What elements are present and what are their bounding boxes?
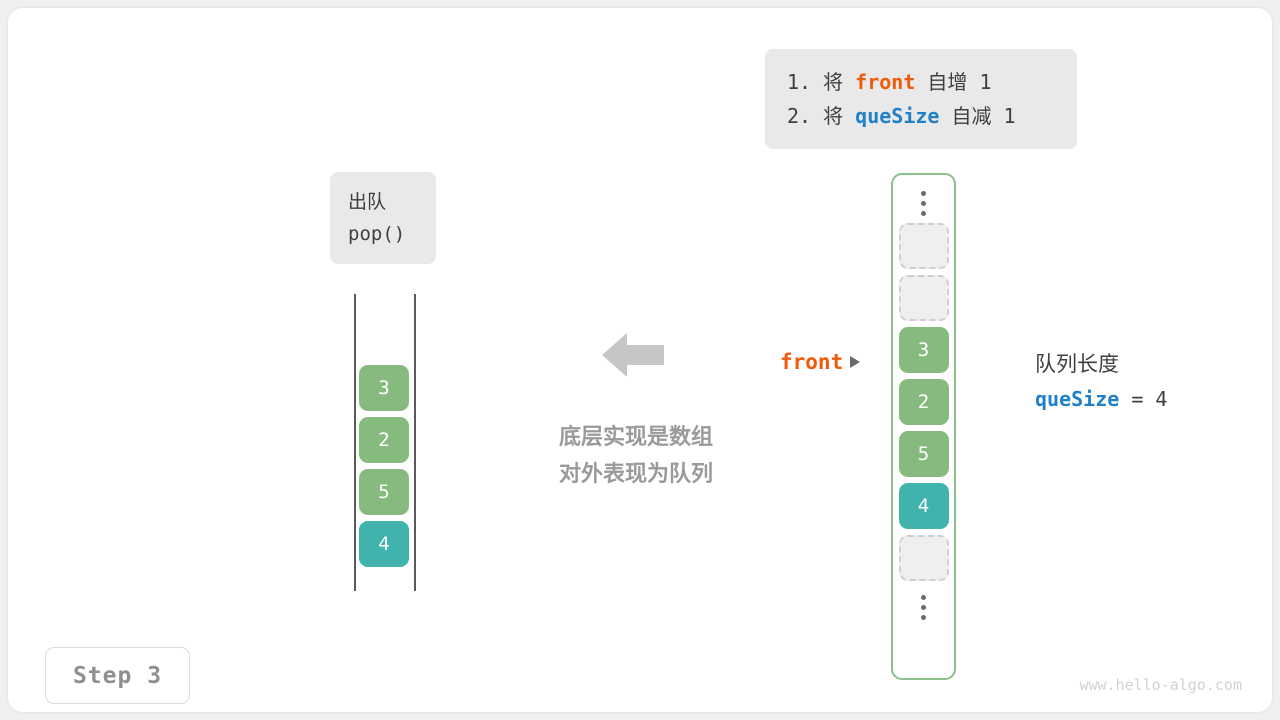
array-cell: 5 — [359, 469, 409, 515]
quesize-value: = 4 — [1119, 387, 1167, 411]
vertical-ellipsis-icon-top — [921, 183, 926, 223]
queue-size-info: 队列长度 queSize = 4 — [1035, 348, 1167, 416]
queue-rail-left — [354, 294, 356, 591]
array-cell: 4 — [899, 483, 949, 529]
array-cell-empty — [899, 275, 949, 321]
pop-label-method: pop() — [348, 218, 436, 250]
diagram-canvas: 1. 将 front 自增 1 2. 将 queSize 自减 1 出队 pop… — [8, 8, 1272, 712]
array-cell-empty — [899, 223, 949, 269]
quesize-keyword: queSize — [855, 104, 939, 128]
instruction-line-2-suffix: 自减 1 — [939, 104, 1015, 128]
array-cell: 3 — [899, 327, 949, 373]
array-cell: 5 — [899, 431, 949, 477]
watermark: www.hello-algo.com — [1079, 676, 1242, 694]
left-arrow-icon — [602, 330, 664, 380]
instruction-line-2-prefix: 2. 将 — [787, 104, 855, 128]
queue-cell-list: 3254 — [359, 365, 409, 573]
queue-size-expression: queSize = 4 — [1035, 382, 1167, 416]
front-pointer: front — [780, 350, 860, 374]
pop-operation-label: 出队 pop() — [330, 172, 436, 264]
array-container: 3254 — [891, 173, 956, 680]
front-pointer-label: front — [780, 350, 843, 374]
instruction-line-1: 1. 将 front 自增 1 — [787, 65, 1055, 99]
front-keyword: front — [855, 70, 915, 94]
step-badge: Step 3 — [45, 647, 190, 704]
vertical-ellipsis-icon-bottom — [921, 587, 926, 627]
caption-line-2: 对外表现为队列 — [536, 455, 736, 492]
instruction-line-1-prefix: 1. 将 — [787, 70, 855, 94]
triangle-right-icon — [850, 356, 860, 368]
diagram-caption: 底层实现是数组 对外表现为队列 — [536, 418, 736, 492]
instruction-line-2: 2. 将 queSize 自减 1 — [787, 99, 1055, 133]
instruction-line-1-suffix: 自增 1 — [915, 70, 991, 94]
array-cell-list: 3254 — [899, 223, 949, 587]
instruction-note: 1. 将 front 自增 1 2. 将 queSize 自减 1 — [765, 49, 1077, 149]
quesize-variable: queSize — [1035, 387, 1119, 411]
array-cell-empty — [899, 535, 949, 581]
queue-size-title: 队列长度 — [1035, 348, 1167, 382]
array-cell: 2 — [359, 417, 409, 463]
array-cell: 3 — [359, 365, 409, 411]
caption-line-1: 底层实现是数组 — [536, 418, 736, 455]
queue-rail-right — [414, 294, 416, 591]
array-cell: 2 — [899, 379, 949, 425]
pop-label-title: 出队 — [348, 186, 436, 218]
array-cell: 4 — [359, 521, 409, 567]
